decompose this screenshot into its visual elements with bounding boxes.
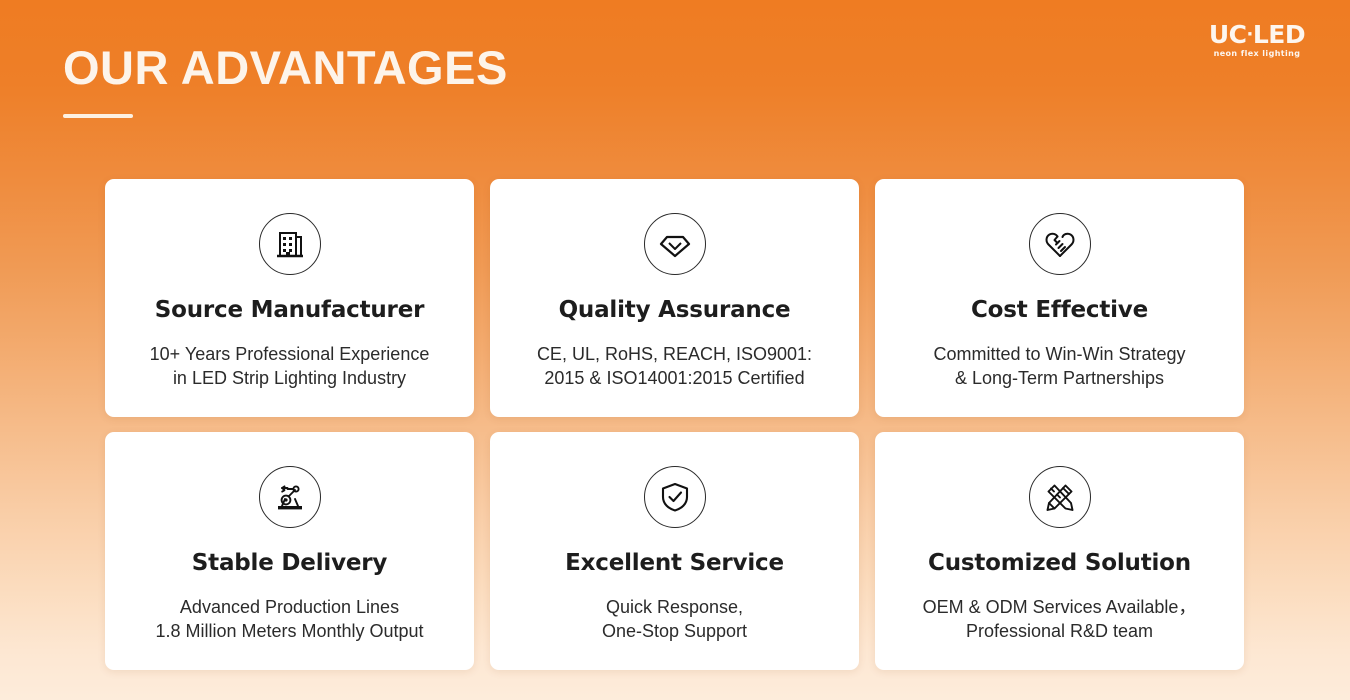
card-title: Source Manufacturer	[155, 297, 425, 325]
page-title-block: OUR ADVANTAGES	[63, 42, 508, 118]
page-title: OUR ADVANTAGES	[63, 42, 508, 94]
title-underline-accent	[63, 114, 133, 118]
pencil-ruler-icon	[1029, 466, 1091, 528]
logo-text-uc: UC	[1209, 20, 1247, 49]
advantages-grid: Source Manufacturer 10+ Years Profession…	[105, 179, 1244, 670]
logo-wordmark: UC·LED	[1197, 22, 1317, 47]
robot-arm-icon	[259, 466, 321, 528]
card-title: Stable Delivery	[192, 550, 387, 578]
building-icon	[259, 213, 321, 275]
logo-tagline: neon flex lighting	[1197, 49, 1317, 58]
card-description: Advanced Production Lines 1.8 Million Me…	[141, 595, 437, 644]
card-description: CE, UL, RoHS, REACH, ISO9001: 2015 & ISO…	[523, 342, 826, 391]
card-description: Quick Response, One-Stop Support	[588, 595, 761, 644]
card-title: Customized Solution	[928, 550, 1191, 578]
card-description: OEM & ODM Services Available， Profession…	[909, 595, 1211, 644]
card-description: Committed to Win-Win Strategy & Long-Ter…	[919, 342, 1199, 391]
card-description: 10+ Years Professional Experience in LED…	[136, 342, 444, 391]
shield-check-icon	[644, 466, 706, 528]
advantage-card[interactable]: Excellent Service Quick Response, One-St…	[490, 432, 859, 670]
advantage-card[interactable]: Quality Assurance CE, UL, RoHS, REACH, I…	[490, 179, 859, 417]
card-title: Quality Assurance	[559, 297, 791, 325]
handshake-heart-icon	[1029, 213, 1091, 275]
card-title: Cost Effective	[971, 297, 1148, 325]
advantage-card[interactable]: Customized Solution OEM & ODM Services A…	[875, 432, 1244, 670]
advantage-card[interactable]: Stable Delivery Advanced Production Line…	[105, 432, 474, 670]
slide-canvas: UC·LED neon flex lighting OUR ADVANTAGES	[0, 0, 1350, 700]
logo-text-led: LED	[1253, 20, 1305, 49]
card-title: Excellent Service	[565, 550, 784, 578]
brand-logo: UC·LED neon flex lighting	[1197, 22, 1317, 58]
advantage-card[interactable]: Source Manufacturer 10+ Years Profession…	[105, 179, 474, 417]
diamond-icon	[644, 213, 706, 275]
advantage-card[interactable]: Cost Effective Committed to Win-Win Stra…	[875, 179, 1244, 417]
